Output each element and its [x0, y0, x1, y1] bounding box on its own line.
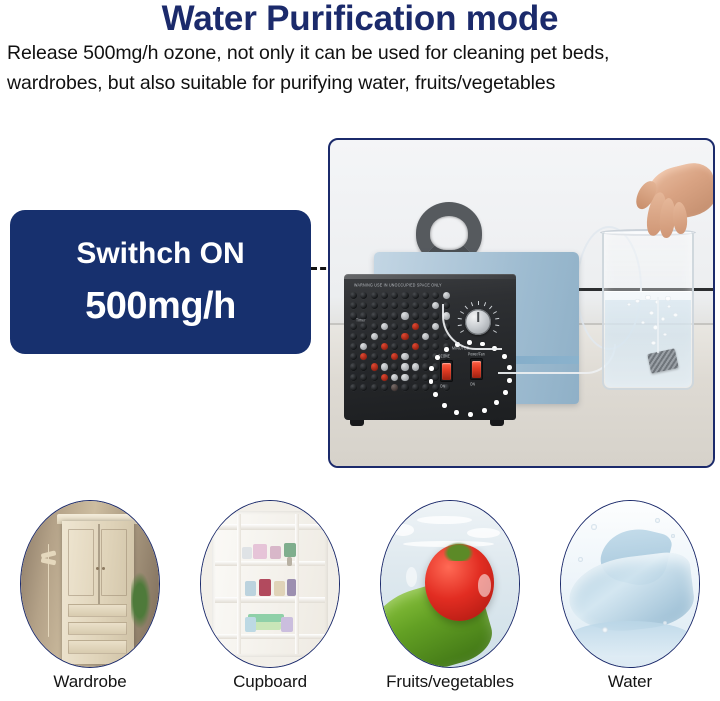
water-drop-2 — [655, 518, 660, 523]
wardrobe-scene — [21, 501, 159, 667]
application-thumbnails: Wardrobe — [0, 500, 720, 701]
callout-output-value: 500mg/h — [85, 285, 236, 328]
water-drop-3 — [671, 534, 675, 538]
wardrobe-door-split — [98, 524, 100, 604]
fruits-vegetables-photo — [380, 500, 520, 668]
cupboard-photo — [200, 500, 340, 668]
diffuser-tube — [657, 297, 659, 353]
wardrobe-drawer-1 — [68, 604, 127, 617]
houseplant-icon — [131, 567, 153, 633]
cupboard-scene — [201, 501, 339, 667]
water-scene — [561, 501, 699, 667]
wardrobe-photo — [20, 500, 160, 668]
page-title: Water Purification mode — [0, 0, 720, 39]
thumbnail-label: Fruits/vegetables — [386, 672, 514, 692]
glass-beaker — [602, 232, 694, 390]
water-pool — [567, 621, 694, 658]
cupboard-knob — [287, 557, 292, 566]
cupboard-item-6 — [259, 579, 271, 596]
thumbnail-label: Water — [608, 672, 652, 692]
tomato-stem — [442, 541, 475, 561]
splash-1 — [392, 524, 414, 536]
cupboard-shelf-1 — [215, 524, 325, 530]
water-drop-4 — [578, 557, 583, 562]
cupboard-item-2 — [270, 546, 281, 559]
wardrobe-panel-right — [101, 529, 127, 595]
thumbnail-cupboard: Cupboard — [180, 500, 360, 701]
wardrobe-drawer-3 — [68, 640, 127, 653]
water-drop-1 — [591, 524, 597, 530]
bubble-stream — [605, 291, 691, 387]
water-splash-photo — [560, 500, 700, 668]
switch-on-callout: Swithch ON 500mg/h — [10, 210, 311, 354]
cupboard-shelf-4 — [215, 634, 325, 640]
cupboard-shelf-2 — [215, 561, 325, 567]
cupboard-divider-left — [237, 514, 241, 653]
subtitle-line-2: wardrobes, but also suitable for purifyi… — [7, 68, 719, 98]
cupboard-item-1 — [253, 544, 267, 559]
product-photo: WARNING USE IN UNOCCUPIED SPACE ONLY — [328, 138, 715, 468]
cupboard-item-9 — [245, 617, 256, 632]
wardrobe-drawer-2 — [68, 622, 127, 635]
thumbnail-label: Wardrobe — [53, 672, 126, 692]
water-volume — [605, 291, 691, 387]
tube-run-to-beaker — [498, 344, 616, 374]
cupboard-item-8 — [287, 579, 297, 596]
fruits-scene — [381, 501, 519, 667]
cupboard-item-10 — [281, 617, 293, 632]
thumbnail-wardrobe: Wardrobe — [0, 500, 180, 701]
infographic-page: Water Purification mode Release 500mg/h … — [0, 0, 720, 701]
panel-top-highlight — [344, 274, 516, 279]
coat-rack-icon — [38, 544, 60, 637]
cupboard-item-5 — [245, 581, 256, 596]
splash-6 — [406, 567, 417, 587]
timer-knob-label: Timer — [356, 317, 366, 322]
subtitle-line-1: Release 500mg/h ozone, not only it can b… — [7, 38, 719, 68]
cupboard-shelf-3 — [215, 597, 325, 603]
callout-switch-label: Swithch ON — [76, 237, 244, 271]
hand — [630, 162, 715, 248]
machine-foot-left — [350, 420, 364, 426]
thumbnail-label: Cupboard — [233, 672, 307, 692]
splash-3 — [467, 528, 500, 538]
thumbnail-water: Water — [540, 500, 720, 701]
cupboard-item-4 — [242, 547, 252, 559]
water-drop-6 — [663, 621, 667, 625]
cupboard-item-3 — [284, 543, 296, 558]
thumbnail-fruits-vegetables: Fruits/vegetables — [360, 500, 540, 701]
splash-2 — [417, 516, 472, 524]
cupboard-item-7 — [274, 581, 285, 596]
wardrobe-panel-left — [68, 529, 94, 595]
machine-foot-right — [490, 420, 504, 426]
warning-label: WARNING USE IN UNOCCUPIED SPACE ONLY — [354, 283, 442, 288]
page-subtitle: Release 500mg/h ozone, not only it can b… — [7, 38, 719, 98]
